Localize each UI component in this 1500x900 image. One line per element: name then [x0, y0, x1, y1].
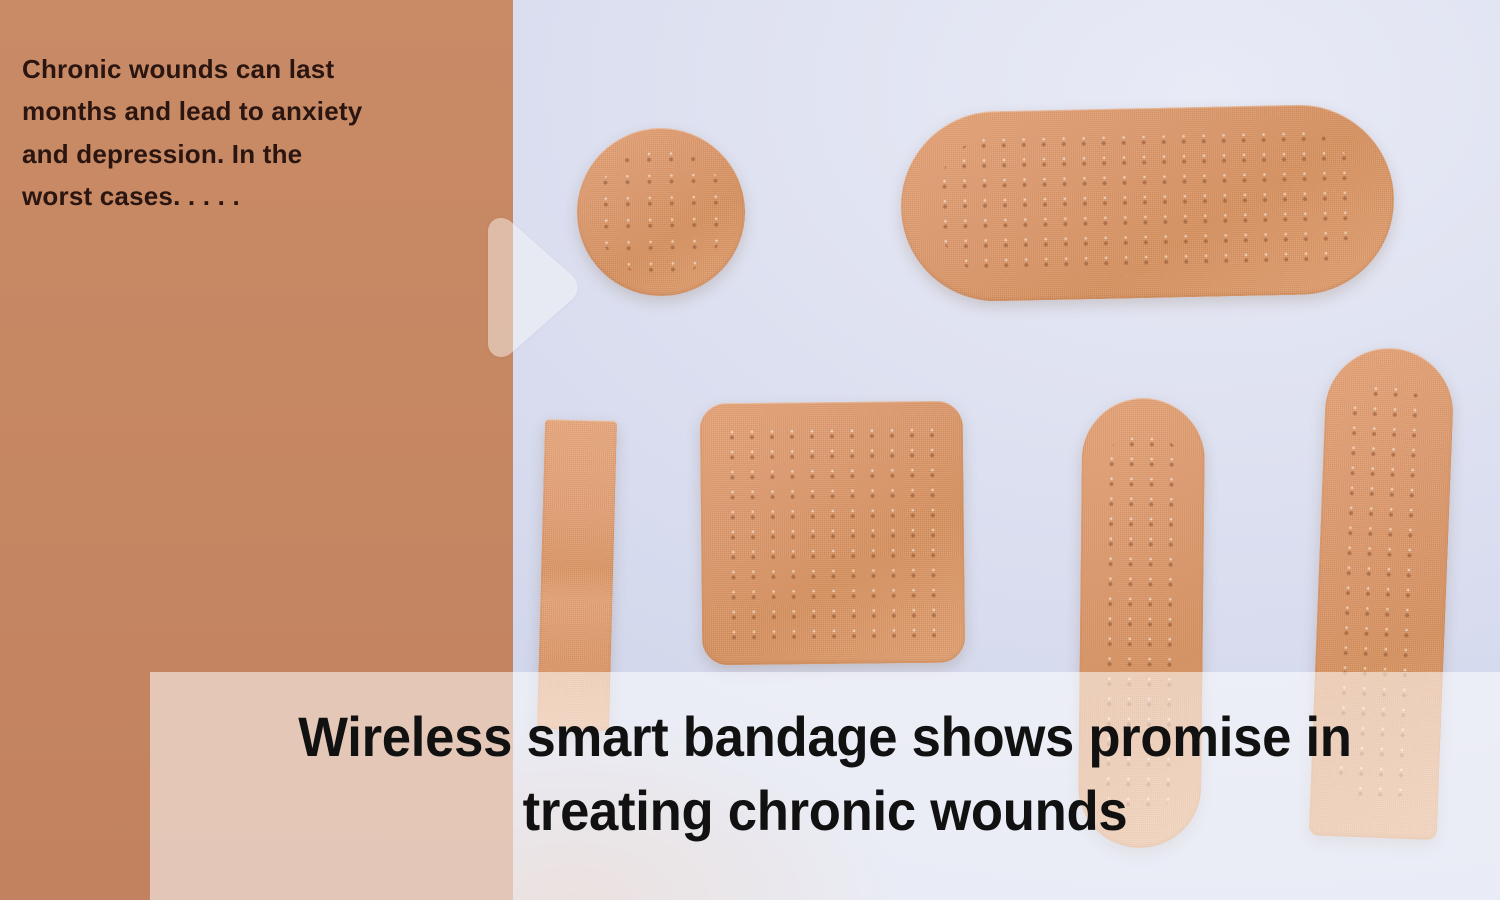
round-bandage [576, 127, 747, 298]
long-strip-bandage [899, 103, 1396, 303]
play-button[interactable] [462, 216, 580, 359]
perforation-grid [934, 126, 1362, 281]
square-pad-bandage [700, 401, 966, 666]
play-triangle-icon [462, 216, 580, 359]
perforation-grid [594, 145, 728, 279]
excerpt-text: Chronic wounds can last months and lead … [22, 48, 482, 218]
article-headline: Wireless smart bandage shows promise in … [191, 700, 1460, 848]
article-hero-card: Chronic wounds can last months and lead … [0, 0, 1500, 900]
perforation-grid [722, 423, 943, 643]
